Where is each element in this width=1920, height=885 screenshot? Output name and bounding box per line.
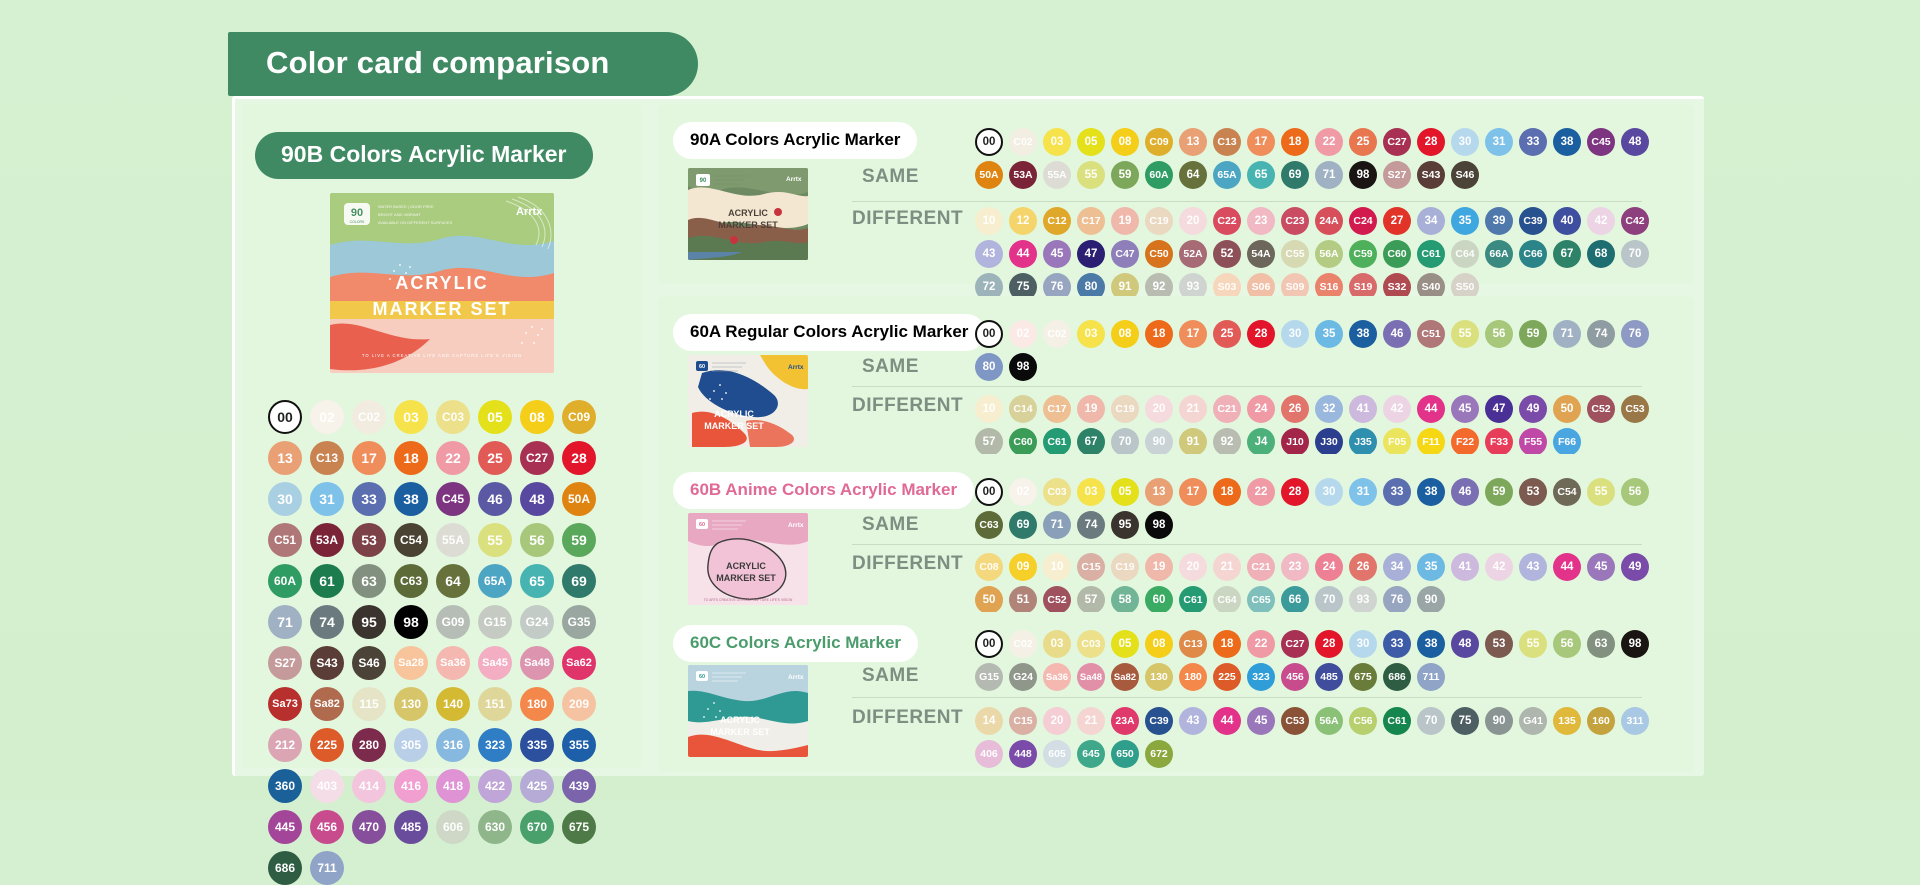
color-chip[interactable]: 43: [1519, 553, 1547, 581]
color-chip[interactable]: 55A: [436, 523, 470, 557]
color-chip[interactable]: 98: [1145, 511, 1173, 539]
color-chip[interactable]: 90: [1145, 428, 1173, 456]
color-chip[interactable]: 05: [1077, 128, 1105, 156]
color-chip[interactable]: C19: [1111, 395, 1139, 423]
color-chip[interactable]: 225: [310, 728, 344, 762]
color-chip[interactable]: 98: [1009, 353, 1037, 381]
color-chip[interactable]: 19: [1111, 207, 1139, 235]
color-chip[interactable]: 672: [1145, 740, 1173, 768]
color-chip[interactable]: G24: [1009, 663, 1037, 691]
color-chip[interactable]: C39: [1145, 707, 1173, 735]
color-chip[interactable]: 56: [1485, 320, 1513, 348]
color-chip[interactable]: 67: [1077, 428, 1105, 456]
color-chip[interactable]: 50A: [975, 161, 1003, 189]
color-chip[interactable]: 56: [1553, 630, 1581, 658]
color-chip[interactable]: 650: [1111, 740, 1139, 768]
color-chip[interactable]: 56: [1621, 478, 1649, 506]
color-chip[interactable]: 212: [268, 728, 302, 762]
color-chip[interactable]: C15: [1077, 553, 1105, 581]
color-chip[interactable]: 33: [1519, 128, 1547, 156]
color-chip[interactable]: 130: [394, 687, 428, 721]
color-chip[interactable]: 71: [1043, 511, 1071, 539]
color-chip[interactable]: S43: [1417, 161, 1445, 189]
color-chip[interactable]: 18: [1145, 320, 1173, 348]
color-chip[interactable]: 22: [1315, 128, 1343, 156]
color-chip[interactable]: Sa48: [520, 646, 554, 680]
color-chip[interactable]: 47: [1077, 240, 1105, 268]
color-chip[interactable]: 57: [975, 428, 1003, 456]
color-chip[interactable]: 09: [1009, 553, 1037, 581]
color-chip[interactable]: Sa28: [394, 646, 428, 680]
color-chip[interactable]: 24: [1247, 395, 1275, 423]
color-chip[interactable]: J30: [1315, 428, 1343, 456]
color-chip[interactable]: F55: [1519, 428, 1547, 456]
color-chip[interactable]: F66: [1553, 428, 1581, 456]
color-chip[interactable]: 323: [1247, 663, 1275, 691]
color-chip[interactable]: 20: [1043, 707, 1071, 735]
color-chip[interactable]: S27: [1383, 161, 1411, 189]
color-chip[interactable]: 180: [1179, 663, 1207, 691]
color-chip[interactable]: 140: [436, 687, 470, 721]
color-chip[interactable]: 02: [1009, 320, 1037, 348]
color-chip[interactable]: 95: [352, 605, 386, 639]
color-chip[interactable]: C03: [1043, 478, 1071, 506]
color-chip[interactable]: J35: [1349, 428, 1377, 456]
color-chip[interactable]: G41: [1519, 707, 1547, 735]
color-chip[interactable]: 38: [1553, 128, 1581, 156]
color-chip[interactable]: 13: [268, 441, 302, 475]
color-chip[interactable]: 470: [352, 810, 386, 844]
color-chip[interactable]: C39: [1519, 207, 1547, 235]
color-chip[interactable]: Sa45: [478, 646, 512, 680]
color-chip[interactable]: 00: [975, 320, 1003, 348]
color-chip[interactable]: 360: [268, 769, 302, 803]
color-chip[interactable]: 05: [1111, 630, 1139, 658]
color-chip[interactable]: 53: [1519, 478, 1547, 506]
color-chip[interactable]: 52: [1213, 240, 1241, 268]
color-chip[interactable]: C64: [1213, 586, 1241, 614]
color-chip[interactable]: 50: [975, 586, 1003, 614]
color-chip[interactable]: 23: [1281, 553, 1309, 581]
color-chip[interactable]: C53: [1621, 395, 1649, 423]
color-chip[interactable]: G35: [562, 605, 596, 639]
color-chip[interactable]: 46: [478, 482, 512, 516]
color-chip[interactable]: 08: [520, 400, 554, 434]
color-chip[interactable]: C50: [1145, 240, 1173, 268]
color-chip[interactable]: 51: [1009, 586, 1037, 614]
color-chip[interactable]: 92: [1213, 428, 1241, 456]
color-chip[interactable]: 403: [310, 769, 344, 803]
color-chip[interactable]: 03: [1077, 320, 1105, 348]
color-chip[interactable]: 23A: [1111, 707, 1139, 735]
color-chip[interactable]: 75: [1451, 707, 1479, 735]
color-chip[interactable]: C13: [1179, 630, 1207, 658]
color-chip[interactable]: 74: [310, 605, 344, 639]
color-chip[interactable]: 48: [520, 482, 554, 516]
color-chip[interactable]: 645: [1077, 740, 1105, 768]
color-chip[interactable]: 98: [394, 605, 428, 639]
color-chip[interactable]: C59: [1349, 240, 1377, 268]
color-chip[interactable]: C27: [1281, 630, 1309, 658]
color-chip[interactable]: 65: [1247, 161, 1275, 189]
color-chip[interactable]: 605: [1043, 740, 1071, 768]
color-chip[interactable]: 61: [310, 564, 344, 598]
color-chip[interactable]: C12: [1043, 207, 1071, 235]
color-chip[interactable]: 28: [562, 441, 596, 475]
color-chip[interactable]: 40: [1553, 207, 1581, 235]
color-chip[interactable]: C24: [1349, 207, 1377, 235]
color-chip[interactable]: Sa36: [436, 646, 470, 680]
color-chip[interactable]: C17: [1043, 395, 1071, 423]
color-chip[interactable]: 33: [1383, 478, 1411, 506]
color-chip[interactable]: 60: [1145, 586, 1173, 614]
color-chip[interactable]: 28: [1315, 630, 1343, 658]
color-chip[interactable]: 70: [1621, 240, 1649, 268]
color-chip[interactable]: S46: [352, 646, 386, 680]
color-chip[interactable]: 24A: [1315, 207, 1343, 235]
color-chip[interactable]: 66A: [1485, 240, 1513, 268]
color-chip[interactable]: 439: [562, 769, 596, 803]
color-chip[interactable]: C02: [1009, 630, 1037, 658]
color-chip[interactable]: C60: [1383, 240, 1411, 268]
color-chip[interactable]: 675: [562, 810, 596, 844]
color-chip[interactable]: C60: [1009, 428, 1037, 456]
color-chip[interactable]: 35: [1417, 553, 1445, 581]
color-chip[interactable]: 38: [394, 482, 428, 516]
color-chip[interactable]: 08: [1111, 320, 1139, 348]
color-chip[interactable]: 42: [1587, 207, 1615, 235]
color-chip[interactable]: 17: [1179, 478, 1207, 506]
color-chip[interactable]: 60A: [268, 564, 302, 598]
color-chip[interactable]: 335: [520, 728, 554, 762]
color-chip[interactable]: 91: [1179, 428, 1207, 456]
color-chip[interactable]: 355: [562, 728, 596, 762]
color-chip[interactable]: G15: [478, 605, 512, 639]
color-chip[interactable]: 23: [1247, 207, 1275, 235]
color-chip[interactable]: J10: [1281, 428, 1309, 456]
color-chip[interactable]: 63: [352, 564, 386, 598]
color-chip[interactable]: 44: [1417, 395, 1445, 423]
color-chip[interactable]: S46: [1451, 161, 1479, 189]
color-chip[interactable]: 686: [268, 851, 302, 885]
color-chip[interactable]: G09: [436, 605, 470, 639]
color-chip[interactable]: C17: [1077, 207, 1105, 235]
color-chip[interactable]: 98: [1621, 630, 1649, 658]
color-chip[interactable]: S27: [268, 646, 302, 680]
color-chip[interactable]: C66: [1519, 240, 1547, 268]
color-chip[interactable]: 00: [268, 400, 302, 434]
color-chip[interactable]: 53A: [1009, 161, 1037, 189]
color-chip[interactable]: 160: [1587, 707, 1615, 735]
color-chip[interactable]: 25: [1213, 320, 1241, 348]
color-chip[interactable]: 44: [1553, 553, 1581, 581]
color-chip[interactable]: C03: [436, 400, 470, 434]
color-chip[interactable]: 90: [1485, 707, 1513, 735]
color-chip[interactable]: 39: [1485, 207, 1513, 235]
color-chip[interactable]: 03: [1043, 128, 1071, 156]
color-chip[interactable]: C65: [1247, 586, 1275, 614]
color-chip[interactable]: Sa48: [1077, 663, 1105, 691]
color-chip[interactable]: 46: [1451, 478, 1479, 506]
color-chip[interactable]: Sa73: [268, 687, 302, 721]
color-chip[interactable]: 55: [1587, 478, 1615, 506]
color-chip[interactable]: 670: [520, 810, 554, 844]
color-chip[interactable]: 58: [1111, 586, 1139, 614]
color-chip[interactable]: 56A: [1315, 240, 1343, 268]
color-chip[interactable]: 55A: [1043, 161, 1071, 189]
color-chip[interactable]: C42: [1621, 207, 1649, 235]
color-chip[interactable]: C09: [1145, 128, 1173, 156]
color-chip[interactable]: C61: [1043, 428, 1071, 456]
color-chip[interactable]: 10: [1043, 553, 1071, 581]
color-chip[interactable]: 53: [352, 523, 386, 557]
color-chip[interactable]: 08: [1111, 128, 1139, 156]
color-chip[interactable]: 19: [1145, 553, 1173, 581]
color-chip[interactable]: 316: [436, 728, 470, 762]
color-chip[interactable]: 54A: [1247, 240, 1275, 268]
color-chip[interactable]: 67: [1553, 240, 1581, 268]
color-chip[interactable]: 70: [1111, 428, 1139, 456]
color-chip[interactable]: C23: [1281, 207, 1309, 235]
color-chip[interactable]: 151: [478, 687, 512, 721]
color-chip[interactable]: 28: [1417, 128, 1445, 156]
color-chip[interactable]: 686: [1383, 663, 1411, 691]
color-chip[interactable]: 74: [1587, 320, 1615, 348]
color-chip[interactable]: G15: [975, 663, 1003, 691]
color-chip[interactable]: 445: [268, 810, 302, 844]
color-chip[interactable]: 76: [1383, 586, 1411, 614]
color-chip[interactable]: 41: [1451, 553, 1479, 581]
color-chip[interactable]: 70: [1417, 707, 1445, 735]
color-chip[interactable]: C53: [1281, 707, 1309, 735]
color-chip[interactable]: 00: [975, 630, 1003, 658]
color-chip[interactable]: 425: [520, 769, 554, 803]
color-chip[interactable]: 25: [478, 441, 512, 475]
color-chip[interactable]: 59: [1485, 478, 1513, 506]
color-chip[interactable]: 70: [1315, 586, 1343, 614]
color-chip[interactable]: 95: [1111, 511, 1139, 539]
color-chip[interactable]: 03: [1043, 630, 1071, 658]
color-chip[interactable]: 323: [478, 728, 512, 762]
color-chip[interactable]: 630: [478, 810, 512, 844]
color-chip[interactable]: C19: [1145, 207, 1173, 235]
color-chip[interactable]: 52A: [1179, 240, 1207, 268]
color-chip[interactable]: 18: [1281, 128, 1309, 156]
color-chip[interactable]: 606: [436, 810, 470, 844]
color-chip[interactable]: 33: [352, 482, 386, 516]
color-chip[interactable]: C14: [1009, 395, 1037, 423]
color-chip[interactable]: 69: [562, 564, 596, 598]
color-chip[interactable]: 43: [975, 240, 1003, 268]
color-chip[interactable]: 38: [1349, 320, 1377, 348]
color-chip[interactable]: C61: [1417, 240, 1445, 268]
color-chip[interactable]: 13: [1179, 128, 1207, 156]
color-chip[interactable]: 02: [310, 400, 344, 434]
color-chip[interactable]: Sa36: [1043, 663, 1071, 691]
color-chip[interactable]: 42: [1383, 395, 1411, 423]
color-chip[interactable]: 03: [1077, 478, 1105, 506]
color-chip[interactable]: 10: [975, 395, 1003, 423]
color-chip[interactable]: G24: [520, 605, 554, 639]
color-chip[interactable]: 311: [1621, 707, 1649, 735]
color-chip[interactable]: 280: [352, 728, 386, 762]
color-chip[interactable]: 31: [310, 482, 344, 516]
color-chip[interactable]: 209: [562, 687, 596, 721]
color-chip[interactable]: Sa62: [562, 646, 596, 680]
color-chip[interactable]: 675: [1349, 663, 1377, 691]
color-chip[interactable]: 30: [1281, 320, 1309, 348]
color-chip[interactable]: C27: [520, 441, 554, 475]
color-chip[interactable]: C02: [1009, 128, 1037, 156]
color-chip[interactable]: 08: [1145, 630, 1173, 658]
color-chip[interactable]: C19: [1111, 553, 1139, 581]
color-chip[interactable]: 34: [1383, 553, 1411, 581]
color-chip[interactable]: 22: [1247, 478, 1275, 506]
color-chip[interactable]: 60A: [1145, 161, 1173, 189]
color-chip[interactable]: 69: [1281, 161, 1309, 189]
color-chip[interactable]: 69: [1009, 511, 1037, 539]
color-chip[interactable]: Sa82: [1111, 663, 1139, 691]
color-chip[interactable]: F05: [1383, 428, 1411, 456]
color-chip[interactable]: 76: [1621, 320, 1649, 348]
color-chip[interactable]: 44: [1009, 240, 1037, 268]
color-chip[interactable]: 59: [1111, 161, 1139, 189]
color-chip[interactable]: 12: [1009, 207, 1037, 235]
color-chip[interactable]: 74: [1077, 511, 1105, 539]
color-chip[interactable]: 71: [1315, 161, 1343, 189]
color-chip[interactable]: 59: [562, 523, 596, 557]
color-chip[interactable]: 55: [478, 523, 512, 557]
color-chip[interactable]: 05: [478, 400, 512, 434]
color-chip[interactable]: 68: [1587, 240, 1615, 268]
color-chip[interactable]: 05: [1111, 478, 1139, 506]
color-chip[interactable]: S43: [310, 646, 344, 680]
color-chip[interactable]: C54: [1553, 478, 1581, 506]
color-chip[interactable]: 66: [1281, 586, 1309, 614]
color-chip[interactable]: 30: [268, 482, 302, 516]
color-chip[interactable]: 225: [1213, 663, 1241, 691]
color-chip[interactable]: 33: [1383, 630, 1411, 658]
color-chip[interactable]: 65A: [478, 564, 512, 598]
color-chip[interactable]: 50A: [562, 482, 596, 516]
color-chip[interactable]: 71: [1553, 320, 1581, 348]
color-chip[interactable]: 485: [1315, 663, 1343, 691]
color-chip[interactable]: 32: [1315, 395, 1343, 423]
color-chip[interactable]: 13: [1145, 478, 1173, 506]
color-chip[interactable]: F22: [1451, 428, 1479, 456]
color-chip[interactable]: 10: [975, 207, 1003, 235]
color-chip[interactable]: 49: [1519, 395, 1547, 423]
color-chip[interactable]: 448: [1009, 740, 1037, 768]
color-chip[interactable]: 42: [1485, 553, 1513, 581]
color-chip[interactable]: 45: [1043, 240, 1071, 268]
color-chip[interactable]: 45: [1451, 395, 1479, 423]
color-chip[interactable]: 44: [1213, 707, 1241, 735]
color-chip[interactable]: C02: [352, 400, 386, 434]
color-chip[interactable]: 422: [478, 769, 512, 803]
color-chip[interactable]: 50: [1553, 395, 1581, 423]
color-chip[interactable]: 28: [1247, 320, 1275, 348]
color-chip[interactable]: 47: [1485, 395, 1513, 423]
color-chip[interactable]: 43: [1179, 707, 1207, 735]
color-chip[interactable]: 17: [1179, 320, 1207, 348]
color-chip[interactable]: C02: [1043, 320, 1071, 348]
color-chip[interactable]: Sa82: [310, 687, 344, 721]
color-chip[interactable]: 456: [1281, 663, 1309, 691]
color-chip[interactable]: 20: [1179, 207, 1207, 235]
color-chip[interactable]: C45: [436, 482, 470, 516]
color-chip[interactable]: C56: [1349, 707, 1377, 735]
color-chip[interactable]: 20: [1145, 395, 1173, 423]
color-chip[interactable]: 71: [268, 605, 302, 639]
color-chip[interactable]: C54: [394, 523, 428, 557]
color-chip[interactable]: C15: [1009, 707, 1037, 735]
color-chip[interactable]: 416: [394, 769, 428, 803]
color-chip[interactable]: 130: [1145, 663, 1173, 691]
color-chip[interactable]: C22: [1213, 207, 1241, 235]
color-chip[interactable]: 135: [1553, 707, 1581, 735]
color-chip[interactable]: C45: [1587, 128, 1615, 156]
color-chip[interactable]: C27: [1383, 128, 1411, 156]
color-chip[interactable]: 711: [310, 851, 344, 885]
color-chip[interactable]: 46: [1383, 320, 1411, 348]
color-chip[interactable]: C52: [1587, 395, 1615, 423]
color-chip[interactable]: 59: [1519, 320, 1547, 348]
color-chip[interactable]: 20: [1179, 553, 1207, 581]
color-chip[interactable]: 17: [352, 441, 386, 475]
color-chip[interactable]: 53A: [310, 523, 344, 557]
color-chip[interactable]: 21: [1213, 553, 1241, 581]
color-chip[interactable]: 21: [1179, 395, 1207, 423]
color-chip[interactable]: 115: [352, 687, 386, 721]
color-chip[interactable]: 57: [1077, 586, 1105, 614]
color-chip[interactable]: C55: [1281, 240, 1309, 268]
color-chip[interactable]: F11: [1417, 428, 1445, 456]
color-chip[interactable]: 18: [1213, 630, 1241, 658]
color-chip[interactable]: 64: [436, 564, 470, 598]
color-chip[interactable]: 90: [1417, 586, 1445, 614]
color-chip[interactable]: 48: [1451, 630, 1479, 658]
color-chip[interactable]: 17: [1247, 128, 1275, 156]
color-chip[interactable]: 55: [1451, 320, 1479, 348]
color-chip[interactable]: C63: [394, 564, 428, 598]
color-chip[interactable]: 48: [1621, 128, 1649, 156]
color-chip[interactable]: C64: [1451, 240, 1479, 268]
color-chip[interactable]: 38: [1417, 630, 1445, 658]
color-chip[interactable]: 25: [1349, 128, 1377, 156]
color-chip[interactable]: 18: [394, 441, 428, 475]
color-chip[interactable]: 27: [1383, 207, 1411, 235]
color-chip[interactable]: 98: [1349, 161, 1377, 189]
color-chip[interactable]: C51: [268, 523, 302, 557]
color-chip[interactable]: 414: [352, 769, 386, 803]
color-chip[interactable]: 80: [975, 353, 1003, 381]
color-chip[interactable]: C03: [1077, 630, 1105, 658]
color-chip[interactable]: 53: [1485, 630, 1513, 658]
color-chip[interactable]: 00: [975, 128, 1003, 156]
color-chip[interactable]: C47: [1111, 240, 1139, 268]
color-chip[interactable]: 305: [394, 728, 428, 762]
color-chip[interactable]: 711: [1417, 663, 1445, 691]
color-chip[interactable]: 63: [1587, 630, 1615, 658]
color-chip[interactable]: 22: [1247, 630, 1275, 658]
color-chip[interactable]: 26: [1281, 395, 1309, 423]
color-chip[interactable]: 456: [310, 810, 344, 844]
color-chip[interactable]: 30: [1451, 128, 1479, 156]
color-chip[interactable]: 34: [1417, 207, 1445, 235]
color-chip[interactable]: 56: [520, 523, 554, 557]
color-chip[interactable]: 31: [1349, 478, 1377, 506]
